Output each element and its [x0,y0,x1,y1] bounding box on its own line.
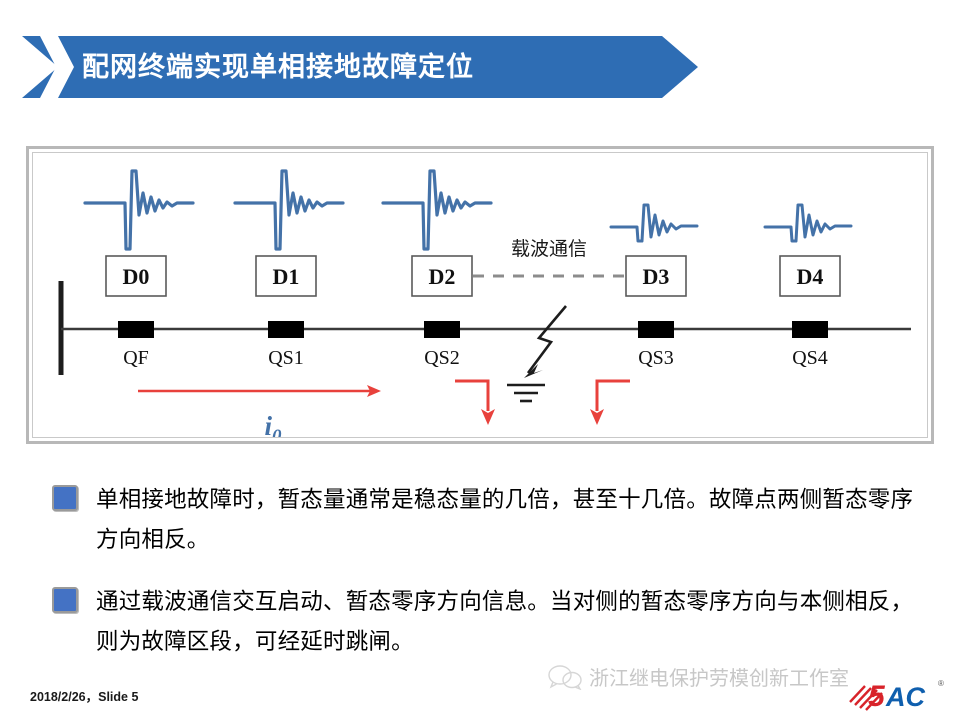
bullet-square-marker-icon [52,587,78,613]
switch-qs4[interactable]: QS4 [792,321,828,369]
terminal-box-d1[interactable]: D1 [256,256,316,296]
switch-label-qs4: QS4 [792,347,828,369]
terminal-box-d2[interactable]: D2 [412,256,472,296]
bullet-item-1: 单相接地故障时，暂态量通常是稳态量的几倍，甚至十几倍。故障点两侧暂态零序方向相反… [52,480,928,560]
ground-fault-symbol-icon [507,306,566,401]
terminal-label-d1: D1 [273,264,300,289]
waveform-d2-icon [383,171,491,249]
sac-logo-ac-mark: AC [885,682,925,712]
terminal-box-d3[interactable]: D3 [626,256,686,296]
page-title: 配网终端实现单相接地故障定位 [82,36,474,98]
carrier-communication-label: 载波通信 [511,238,587,260]
switch-label-qf: QF [123,347,149,369]
switch-label-qs2: QS2 [424,347,460,369]
switch-qf[interactable]: QF [118,321,154,369]
bullet-text-2: 通过载波通信交互启动、暂态零序方向信息。当对侧的暂态零序方向与本侧相反，则为故障… [96,582,928,662]
terminal-box-d4[interactable]: D4 [780,256,840,296]
diagram-frame: 载波通信 D0 D1 D2 D3 D4 [26,146,934,444]
waveform-d3-icon [611,205,697,241]
zero-sequence-arrow-right-icon [590,381,630,425]
terminal-label-d3: D3 [643,264,670,289]
switch-label-qs3: QS3 [638,347,674,369]
switch-label-qs1: QS1 [268,347,304,369]
terminal-label-d4: D4 [797,264,824,289]
diagram-canvas: 载波通信 D0 D1 D2 D3 D4 [32,152,928,438]
bullet-text-1: 单相接地故障时，暂态量通常是稳态量的几倍，甚至十几倍。故障点两侧暂态零序方向相反… [96,480,928,560]
bullet-item-2: 通过载波通信交互启动、暂态零序方向信息。当对侧的暂态零序方向与本侧相反，则为故障… [52,582,928,662]
current-label-i0: i0 [264,411,282,438]
waveform-d0-icon [85,171,193,249]
waveform-d1-icon [235,171,343,249]
sac-logo-registered-mark: ® [938,679,944,688]
footer-date-slide-number: 2018/2/26，Slide 5 [30,686,138,705]
wechat-icon [548,664,582,690]
switch-qs1[interactable]: QS1 [268,321,304,369]
watermark: 浙江继电保护劳模创新工作室 [548,662,849,691]
switch-qs2[interactable]: QS2 [424,321,460,369]
zero-sequence-arrow-left-icon [455,381,495,425]
bullet-square-marker-icon [52,485,78,511]
switch-qs3[interactable]: QS3 [638,321,674,369]
waveform-d4-icon [765,205,851,241]
terminal-label-d0: D0 [123,264,150,289]
slide-title-banner: 配网终端实现单相接地故障定位 [22,36,698,98]
sac-logo-s-mark: 5 [868,680,886,713]
terminal-label-d2: D2 [429,264,456,289]
single-phase-ground-fault-diagram: 载波通信 D0 D1 D2 D3 D4 [33,153,928,438]
zero-sequence-current-arrow [138,385,381,397]
terminal-box-d0[interactable]: D0 [106,256,166,296]
watermark-text: 浙江继电保护劳模创新工作室 [589,662,849,691]
sac-logo: 5 AC ® [848,672,952,714]
